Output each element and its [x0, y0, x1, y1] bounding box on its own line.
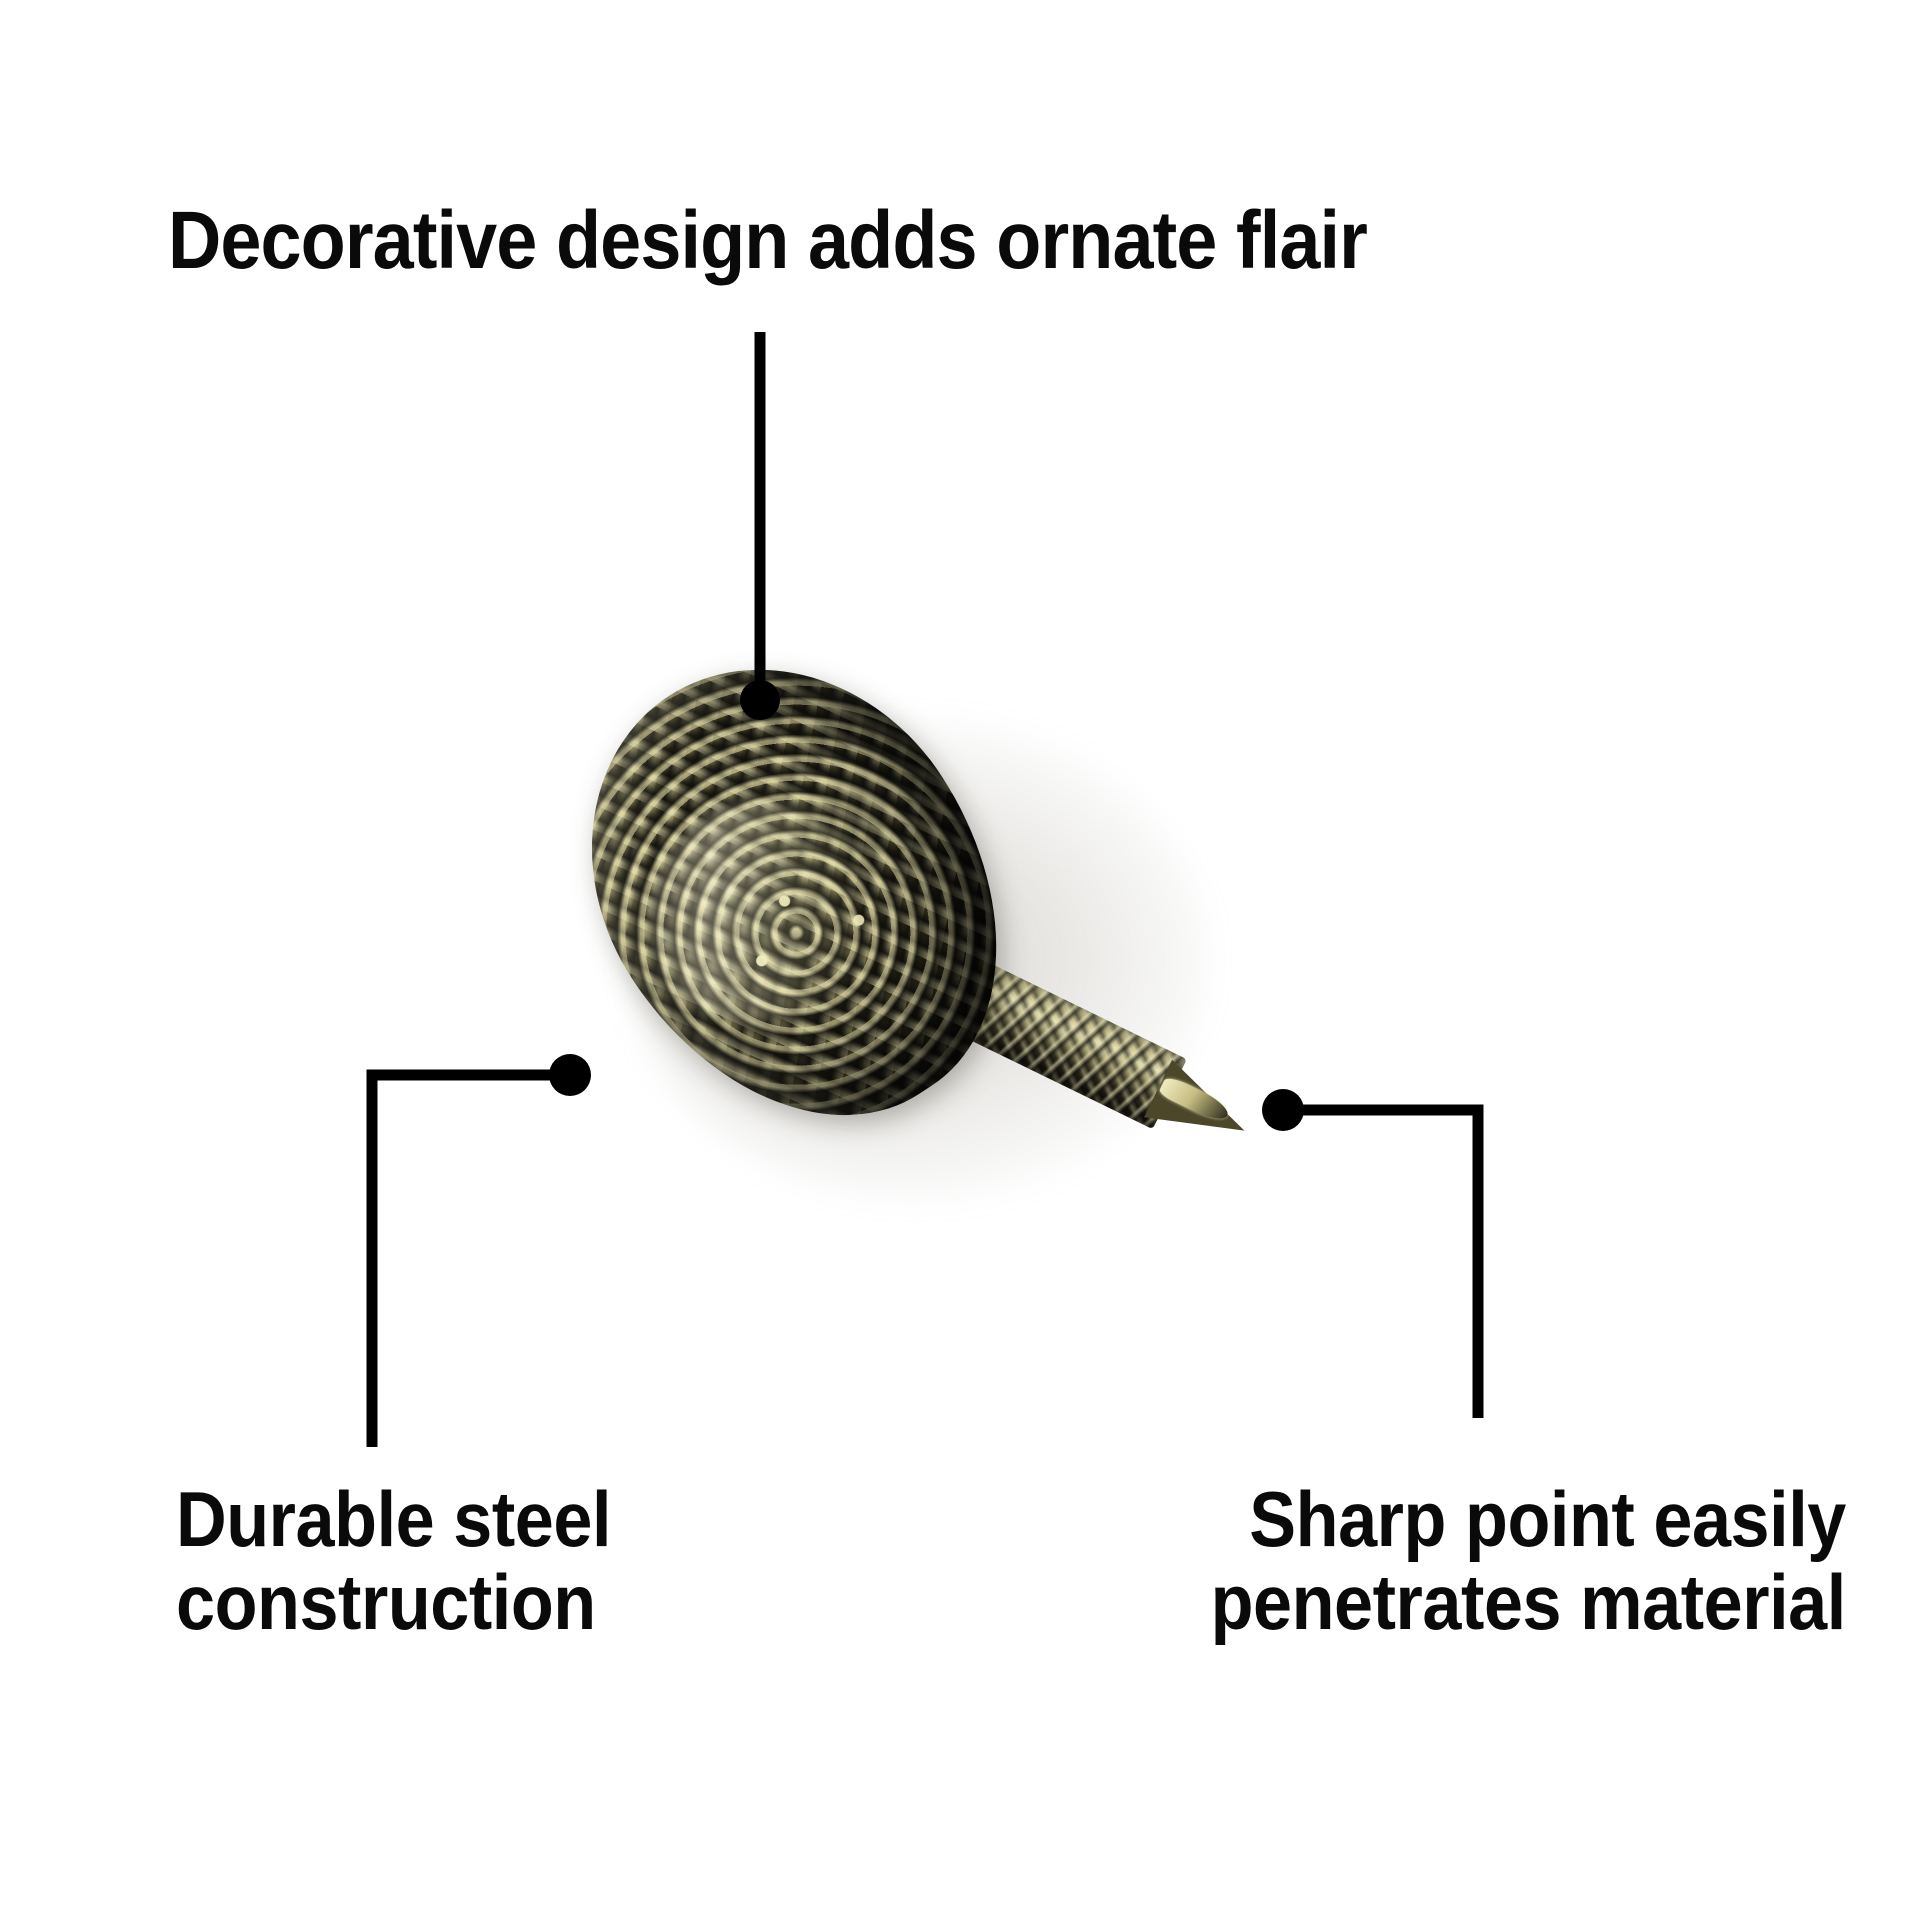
leader-line-sharp-point: [1289, 1110, 1478, 1418]
leader-line-durable-steel: [372, 1075, 565, 1447]
marker-dot-durable-steel: [549, 1054, 591, 1096]
infographic-canvas: Decorative design adds ornate flair Dura…: [0, 0, 1920, 1920]
callout-title-decorative-design: Decorative design adds ornate flair: [168, 198, 1367, 285]
product-image-decorative-tack: [590, 650, 1290, 1250]
callout-text-durable-steel: Durable steel construction: [176, 1478, 611, 1643]
callout-text-sharp-point: Sharp point easily penetrates material: [1211, 1478, 1846, 1643]
